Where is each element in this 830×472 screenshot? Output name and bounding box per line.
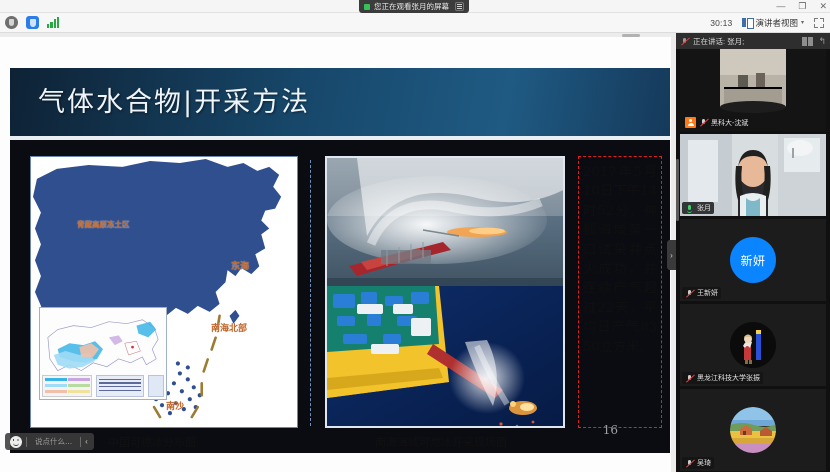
collapse-left-icon[interactable]: ‹ (81, 437, 92, 446)
participant-tile[interactable]: 黑龙江科技大学张振 (680, 304, 826, 386)
inset-map-locator (148, 375, 164, 397)
security-shield-blue-icon[interactable] (26, 16, 39, 29)
speaking-bar-icons: ↰ (802, 37, 826, 46)
avatar-image (730, 322, 776, 368)
participant-name-badge: 吴琦 (682, 457, 714, 469)
screen-share-notice-label: 您正在观看张月的屏幕 (374, 1, 449, 12)
window-controls: — ❐ ✕ (776, 0, 827, 13)
participant-tiles[interactable]: 黑科大-沈斌 (676, 49, 830, 472)
slide-page-number: 16 (603, 423, 618, 437)
emoji-smiley-icon[interactable] (10, 436, 22, 448)
reaction-input-bar[interactable]: 说点什么... ‹ (5, 433, 94, 450)
mic-muted-icon (685, 459, 694, 468)
host-badge-icon (685, 117, 696, 128)
caption-extraction-site: 南海海域可燃冰开采现场图 (375, 434, 507, 450)
avatar-image (730, 407, 776, 453)
close-button[interactable]: ✕ (819, 2, 827, 11)
maximize-button[interactable]: ❐ (798, 2, 806, 11)
screen-share-indicator-icon (364, 4, 370, 10)
avatar: 新妍 (730, 237, 776, 283)
participant-name-badge: 黑龙江科技大学张振 (682, 372, 763, 384)
view-mode-label: 演讲者视图 (755, 17, 798, 29)
slide-title-underline (10, 136, 670, 140)
map-label-east-sea: 东海 (231, 259, 249, 272)
minimize-button[interactable]: — (776, 2, 785, 11)
map-label-qinghai-tibet: 青藏高原冻土区 (77, 219, 130, 230)
participant-name: 黑龙江科技大学张振 (697, 373, 760, 383)
mic-muted-icon (680, 37, 689, 46)
reply-arrow-icon[interactable]: ↰ (818, 37, 826, 46)
photo-gas-flare-sea (327, 158, 565, 300)
inset-map-legend (42, 375, 92, 397)
stage-horizontal-scrollbar[interactable] (0, 33, 676, 37)
toolbar-right-controls: 30:13 演讲者视图 ▾ (710, 17, 830, 29)
chevron-down-icon: ▾ (801, 19, 804, 26)
mic-active-icon (685, 204, 694, 213)
participant-name: 王新妍 (697, 288, 718, 298)
participant-name: 张月 (697, 203, 711, 213)
page-title: 气体水合物|开采方法 (38, 80, 310, 119)
participant-name-badge: 王新妍 (682, 287, 721, 299)
speaker-view-icon (742, 18, 752, 27)
title-bar: 您正在观看张月的屏幕 — ❐ ✕ (0, 0, 830, 13)
caption-china-map: 中国可燃冰分布图 (108, 434, 196, 450)
view-mode-dropdown[interactable]: 演讲者视图 ▾ (742, 17, 804, 29)
network-signal-icon[interactable] (47, 17, 59, 28)
map-label-south-sea-north: 南海北部 (211, 321, 247, 334)
inset-map-note (96, 375, 144, 397)
screen-share-notice[interactable]: 您正在观看张月的屏幕 (359, 0, 469, 13)
china-map-panel: 青藏高原冻土区 东海 南海北部 南沙 中国冻土区天然气水合物分布图 (30, 156, 298, 428)
highlight-quote-box: 2017年5月10日下午14时52分，神狐海域第一口试采井点火成功，并连续产气超… (578, 156, 662, 428)
sidebar-scrollbar[interactable] (676, 159, 679, 221)
presentation-slide: 气体水合物|开采方法 (10, 68, 670, 453)
quote-text: 2017年5月10日下午14时52分，神狐海域第一口试采井点火成功，并连续产气超… (583, 163, 657, 357)
fullscreen-icon[interactable] (814, 18, 824, 28)
participant-tile[interactable]: 新妍 王新妍 (680, 219, 826, 301)
avatar (730, 322, 776, 368)
security-shield-gray-icon[interactable] (5, 16, 18, 29)
meeting-toolbar: 30:13 演讲者视图 ▾ (0, 13, 830, 33)
slide-dashed-divider (310, 160, 311, 426)
share-menu-icon[interactable] (455, 2, 464, 11)
participant-name-badge: 黑科大-沈斌 (682, 116, 751, 129)
participant-tile[interactable]: 吴琦 (680, 389, 826, 471)
mic-muted-icon (685, 374, 694, 383)
avatar (730, 407, 776, 453)
sidebar-collapse-handle[interactable]: › (667, 240, 676, 270)
map-label-nansha: 南沙 (166, 399, 184, 412)
offshore-extraction-photos (325, 156, 565, 428)
photo-drilling-platform-night (327, 286, 565, 428)
participant-name: 黑科大-沈斌 (711, 118, 748, 128)
participant-tile[interactable]: 黑科大-沈斌 (680, 49, 826, 131)
speaking-status-label: 正在讲话: 张月; (693, 36, 744, 47)
participant-name: 吴琦 (697, 458, 711, 468)
participant-name-badge: 张月 (682, 202, 714, 214)
zoom-meeting-window: 您正在观看张月的屏幕 — ❐ ✕ 30:13 演讲者视图 ▾ (0, 0, 830, 472)
shared-screen-stage: 气体水合物|开采方法 (0, 33, 676, 472)
participant-tile-active-speaker[interactable]: 张月 (680, 134, 826, 216)
mic-muted-icon (685, 289, 694, 298)
speaking-status-bar: 正在讲话: 张月; ↰ (676, 33, 830, 49)
reaction-input[interactable]: 说点什么... (27, 436, 80, 447)
participants-sidebar: 正在讲话: 张月; ↰ (676, 33, 830, 472)
toolbar-left-icons (0, 16, 59, 29)
permafrost-inset-map: 中国冻土区天然气水合物分布图 (39, 307, 167, 400)
mic-muted-icon (699, 118, 708, 127)
video-layout-icon[interactable] (802, 37, 814, 46)
meeting-timer: 30:13 (710, 18, 732, 28)
